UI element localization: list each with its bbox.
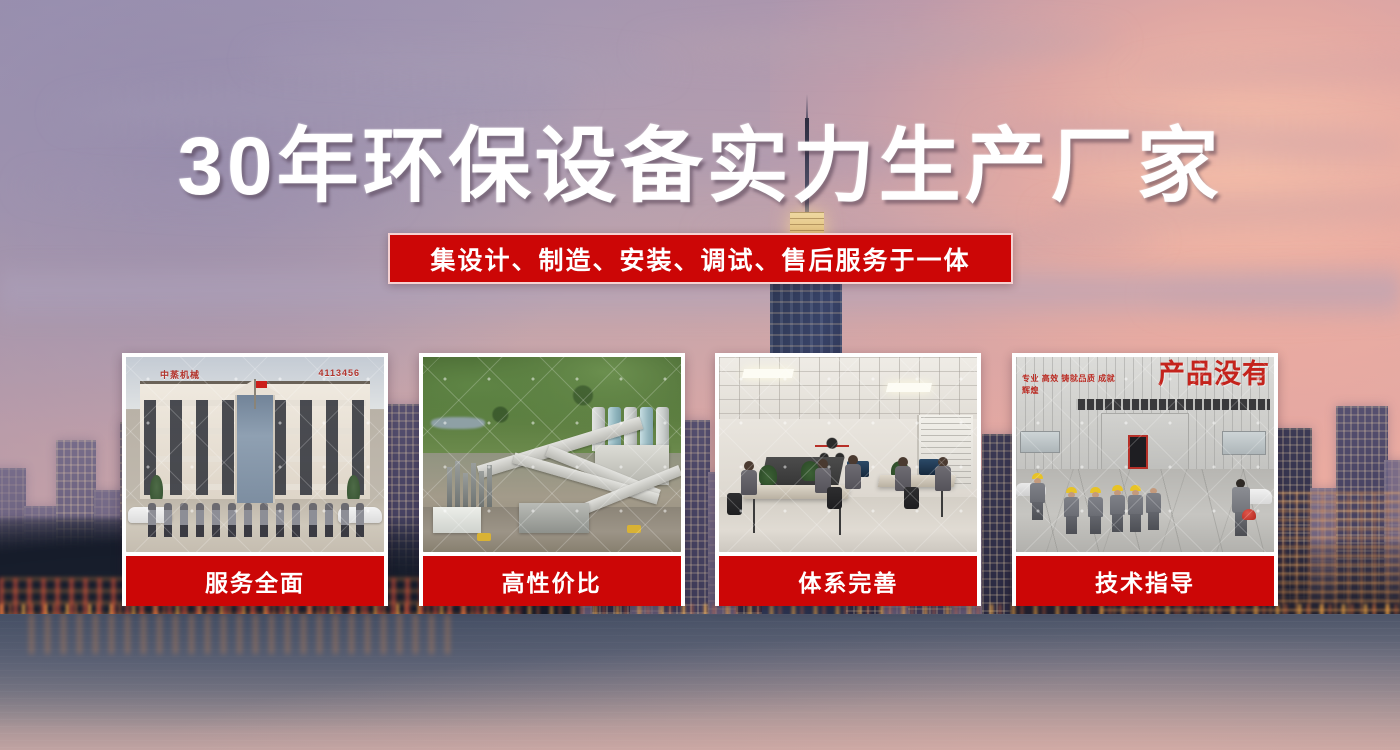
building-sign-text: 中蒸机械 — [160, 368, 200, 381]
workshop-workers-training-photo: 产品没有 专业 高效 铸就品质 成就辉煌 — [1016, 357, 1274, 552]
water-light-reflection — [30, 614, 450, 654]
subtitle-text: 集设计、制造、安装、调试、售后服务于一体 — [430, 241, 970, 277]
workshop-slogan-text: 专业 高效 铸就品质 成就辉煌 — [1022, 373, 1122, 397]
feature-card-service[interactable]: 中蒸机械 4113456 服务全面 — [122, 353, 388, 606]
processing-stacks — [447, 461, 492, 507]
building-phone-text: 4113456 — [318, 368, 360, 378]
card-label-text: 体系完善 — [798, 564, 898, 598]
card-label-bar: 体系完善 — [719, 556, 977, 606]
feature-card-row: 中蒸机械 4113456 服务全面 — [122, 353, 1278, 606]
card-label-text: 技术指导 — [1095, 564, 1195, 598]
flag-icon — [254, 379, 256, 409]
card-label-bar: 技术指导 — [1016, 556, 1274, 606]
red-helmet-icon — [1242, 509, 1256, 520]
card-label-bar: 服务全面 — [126, 556, 384, 606]
excavator — [627, 525, 641, 533]
feature-card-system[interactable]: 体系完善 — [715, 353, 981, 606]
ceiling-light — [886, 383, 932, 392]
office-interior-staff-photo — [719, 357, 977, 552]
card-label-text: 高性价比 — [502, 564, 602, 598]
excavator — [477, 533, 491, 541]
ceiling-light — [742, 369, 794, 378]
workshop-sign-text: 产品没有 — [1158, 361, 1270, 388]
staff-row — [148, 503, 362, 539]
hero-banner: 30年环保设备实力生产厂家 集设计、制造、安装、调试、售后服务于一体 中蒸机械 … — [0, 0, 1400, 750]
feature-card-guidance[interactable]: 产品没有 专业 高效 铸就品质 成就辉煌 — [1012, 353, 1278, 606]
page-title: 30年环保设备实力生产厂家 — [0, 126, 1400, 208]
company-office-building-staff-photo: 中蒸机械 4113456 — [126, 357, 384, 552]
aerial-industrial-plant-photo — [423, 357, 681, 552]
card-label-bar: 高性价比 — [423, 556, 681, 606]
card-label-text: 服务全面 — [205, 564, 305, 598]
subtitle-banner: 集设计、制造、安装、调试、售后服务于一体 — [388, 233, 1013, 284]
feature-card-value[interactable]: 高性价比 — [419, 353, 685, 606]
